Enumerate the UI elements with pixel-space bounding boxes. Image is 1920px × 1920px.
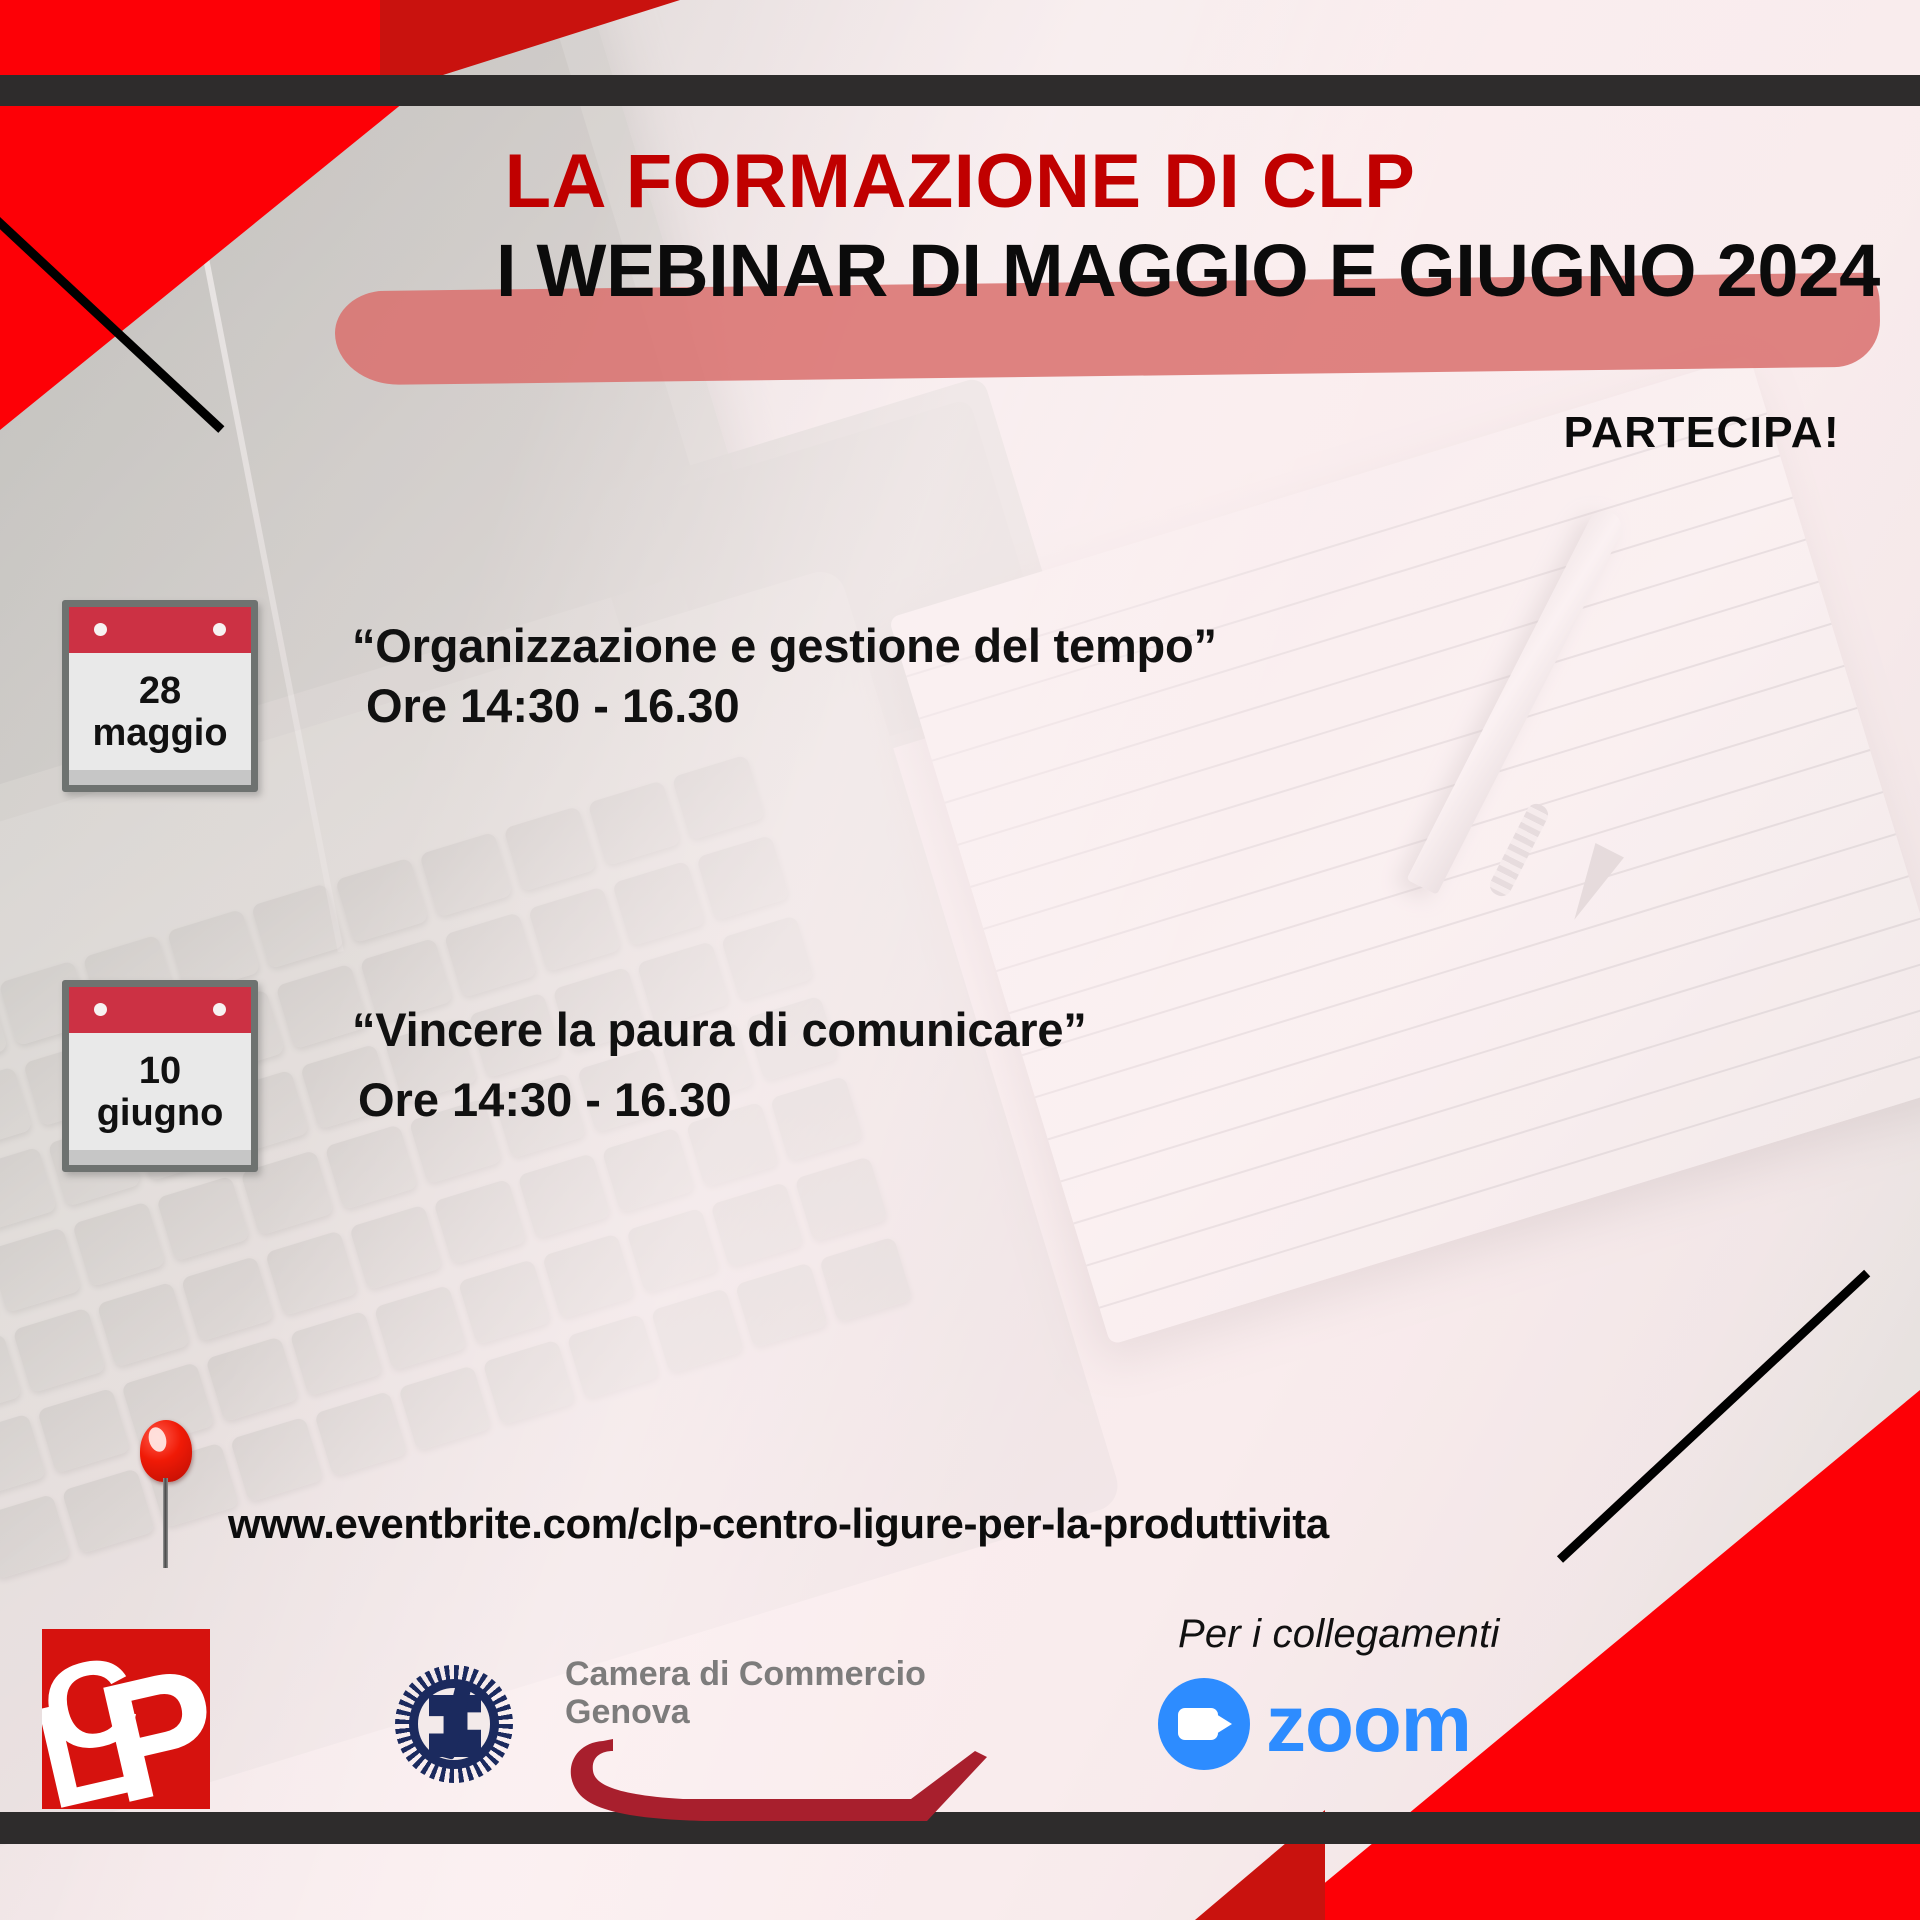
event-time: Ore 14:30 - 16.30: [352, 1071, 1652, 1130]
page-subtitle: I WEBINAR DI MAGGIO E GIUGNO 2024: [0, 228, 1880, 313]
pin-needle: [163, 1478, 168, 1568]
pin-gloss: [146, 1425, 169, 1454]
calendar-footer: [69, 1150, 251, 1165]
chamber-line-1: Camera di Commercio: [565, 1655, 926, 1693]
galley-boat-icon: [555, 1733, 995, 1825]
event-day: 28: [139, 672, 181, 710]
calendar-body: 10 giugno: [69, 1033, 251, 1151]
event-time: Ore 14:30 - 16.30: [352, 677, 1652, 736]
clp-logo: C L P: [42, 1629, 210, 1809]
calendar-header: [69, 607, 251, 653]
poster-canvas: LA FORMAZIONE DI CLP I WEBINAR DI MAGGIO…: [0, 0, 1920, 1920]
calendar-hole-right: [213, 623, 226, 636]
calendar-header: [69, 987, 251, 1033]
camera-di-commercio-logo: Camera di Commercio Genova: [395, 1655, 1015, 1830]
chamber-name: Camera di Commercio Genova: [565, 1655, 926, 1731]
pin-head: [140, 1420, 192, 1482]
event-details: “Vincere la paura di comunicare” Ore 14:…: [352, 1002, 1652, 1130]
event-title: “Vincere la paura di comunicare”: [352, 1002, 1652, 1057]
registration-url[interactable]: www.eventbrite.com/clp-centro-ligure-per…: [228, 1500, 1329, 1548]
event-details: “Organizzazione e gestione del tempo” Or…: [352, 618, 1652, 736]
map-pin-icon: [140, 1420, 200, 1570]
event-day: 10: [139, 1052, 181, 1090]
platform-caption: Per i collegamenti: [1178, 1612, 1500, 1657]
page-title: LA FORMAZIONE DI CLP: [0, 138, 1920, 225]
chamber-line-2: Genova: [565, 1693, 926, 1731]
zoom-platform-block: Per i collegamenti zoom: [1158, 1612, 1578, 1812]
event-month: maggio: [92, 714, 227, 752]
event-month: giugno: [97, 1094, 224, 1132]
zoom-logo: zoom: [1158, 1678, 1471, 1770]
calendar-hole-left: [94, 623, 107, 636]
calendar-body: 28 maggio: [69, 653, 251, 771]
call-to-action-text: PARTECIPA!: [0, 408, 1840, 458]
event-title: “Organizzazione e gestione del tempo”: [352, 618, 1652, 673]
calendar-footer: [69, 770, 251, 785]
video-camera-icon: [1158, 1678, 1250, 1770]
top-dark-bar: [0, 75, 1920, 106]
calendar-icon: 28 maggio: [62, 600, 258, 792]
calendar-icon: 10 giugno: [62, 980, 258, 1172]
calendar-hole-left: [94, 1003, 107, 1016]
calendar-hole-right: [213, 1003, 226, 1016]
zoom-wordmark: zoom: [1266, 1684, 1471, 1764]
camera-body: [1178, 1708, 1218, 1740]
camera-lens: [1216, 1714, 1232, 1734]
